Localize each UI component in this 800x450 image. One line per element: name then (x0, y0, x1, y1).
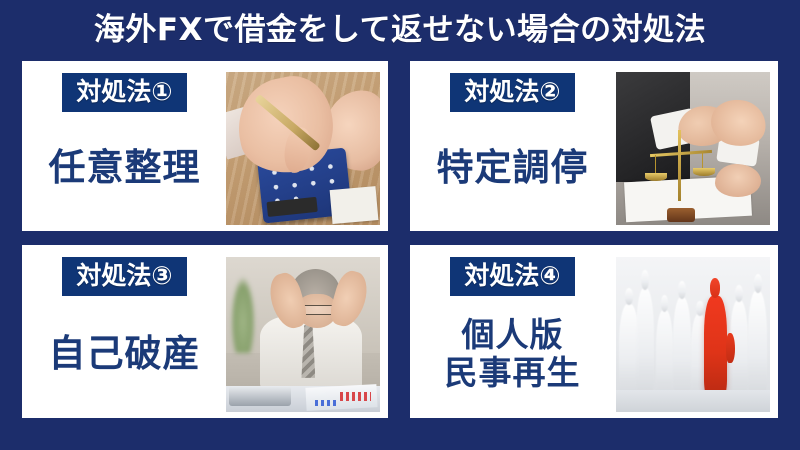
card-4-badge: 対処法④ (450, 257, 574, 296)
page-title-bar: 海外FXで借金をして返せない場合の対処法 (0, 0, 800, 60)
crowd-red-figure-photo (616, 257, 770, 412)
scales-pan-left (645, 173, 667, 181)
method-card-3: 対処法③ 自己破産 (22, 245, 388, 418)
card-1-photo (226, 72, 380, 225)
card-2-text-column: 対処法② 特定調停 (410, 61, 615, 231)
infographic-root: 海外FXで借金をして返せない場合の対処法 対処法① 任意整理 (0, 0, 800, 450)
card-4-photo (616, 257, 770, 412)
card-1-title-line-1: 任意整理 (49, 147, 201, 190)
method-card-4: 対処法④ 個人版 民事再生 (410, 245, 778, 418)
scales-wire-left (655, 155, 656, 173)
card-3-badge: 対処法③ (62, 257, 186, 296)
stressed-businessman-photo (226, 257, 380, 412)
crowd-figure-7 (748, 291, 766, 400)
card-4-text-column: 対処法④ 個人版 民事再生 (410, 245, 615, 418)
card-2-photo (616, 72, 770, 225)
floor-surface (616, 390, 770, 412)
hands-calculator-money-photo (226, 72, 380, 225)
card-3-text-column: 対処法③ 自己破産 (22, 245, 227, 418)
receipt-shape (329, 186, 378, 224)
card-2-badge: 対処法② (450, 73, 574, 112)
scales-post (678, 130, 681, 200)
card-1-badge: 対処法① (62, 73, 186, 112)
crowd-figure-4 (673, 297, 691, 399)
resting-hand-shape (715, 164, 761, 198)
card-1-text-column: 対処法① 任意整理 (22, 61, 227, 231)
page-title: 海外FXで借金をして返せない場合の対処法 (94, 15, 706, 46)
crowd-figure-2 (636, 288, 654, 400)
card-1-title: 任意整理 (49, 112, 201, 231)
method-card-2: 対処法② 特定調停 (410, 61, 778, 231)
blue-chart-marks (315, 400, 337, 406)
card-3-title: 自己破産 (49, 296, 201, 418)
laptop-shape (229, 386, 291, 406)
red-chart-marks (340, 392, 371, 401)
crowd-figure-3 (656, 310, 673, 400)
handshake-scales-of-justice-photo (616, 72, 770, 225)
card-4-title-line-2: 民事再生 (445, 354, 581, 392)
scales-base (667, 208, 695, 222)
scales-pan-right (693, 168, 715, 176)
card-4-title-line-1: 個人版 (462, 316, 564, 354)
card-2-title: 特定調停 (437, 112, 589, 231)
plant-shape (231, 276, 256, 354)
card-3-title-line-1: 自己破産 (49, 333, 201, 376)
card-2-title-line-1: 特定調停 (437, 147, 589, 190)
card-4-title: 個人版 民事再生 (445, 296, 581, 418)
card-3-photo (226, 257, 380, 412)
scales-wire-right (702, 152, 703, 170)
method-card-1: 対処法① 任意整理 (22, 61, 388, 231)
red-standout-figure (704, 296, 727, 398)
